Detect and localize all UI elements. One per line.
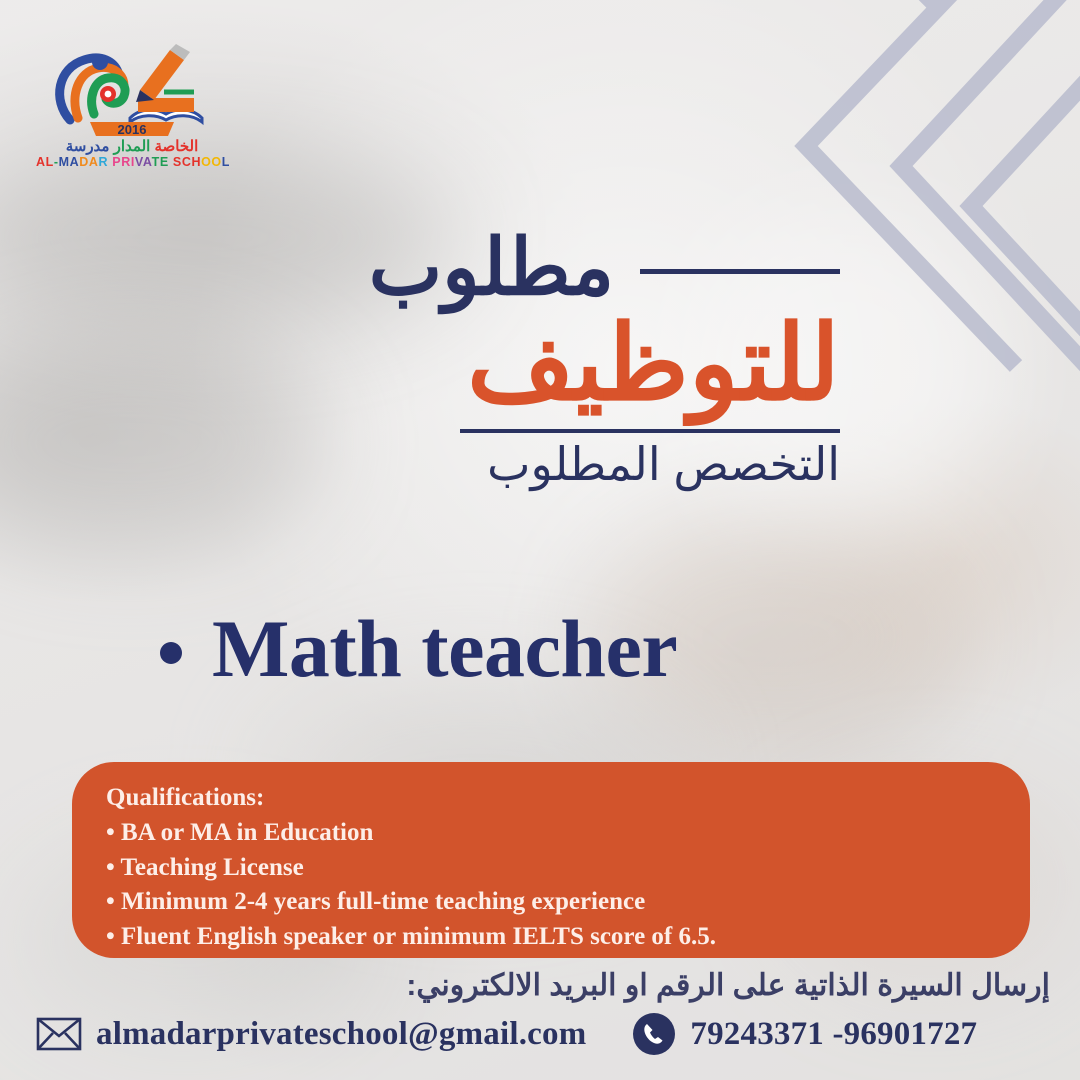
- role-title: Math teacher: [212, 608, 677, 690]
- role-line: Math teacher: [160, 608, 677, 690]
- school-crest-icon: 2016: [44, 42, 220, 138]
- logo-en-part: R: [99, 155, 109, 169]
- headline-block: مطلوب للتوظيف التخصص المطلوب: [220, 228, 840, 490]
- logo-en-part: PRI: [112, 155, 135, 169]
- phone-numbers: 79243371 -96901727: [690, 1016, 977, 1053]
- apply-instruction-text: إرسال السيرة الذاتية على الرقم او البريد…: [406, 968, 1050, 1003]
- logo-name-ar-part: مدرسة: [66, 138, 110, 155]
- envelope-icon: [36, 1017, 82, 1051]
- headline-line-2: للتوظيف: [220, 310, 840, 419]
- logo-en-part: L: [222, 155, 230, 169]
- headline-divider-bottom: [460, 429, 840, 433]
- qualification-item: • Minimum 2-4 years full-time teaching e…: [106, 885, 996, 920]
- contact-email[interactable]: almadarprivateschool@gmail.com: [36, 1016, 586, 1053]
- logo-year-text: 2016: [118, 122, 147, 137]
- bullet-dot-icon: [160, 642, 182, 664]
- headline-subtitle: التخصص المطلوب: [220, 439, 840, 490]
- logo-en-part: MA: [59, 155, 80, 169]
- headline-row-top: مطلوب: [220, 228, 840, 306]
- logo-en-part: SCH: [173, 155, 201, 169]
- email-address: almadarprivateschool@gmail.com: [96, 1016, 586, 1053]
- logo-name-english: AL-MADAR PRIVATE SCHOOL: [36, 156, 228, 170]
- logo-name-ar-part: المدار: [114, 138, 151, 155]
- headline-divider-top: [640, 269, 840, 274]
- job-poster: 2016 الخاصة المدار مدرسة AL-MADAR PRIVAT…: [0, 0, 1080, 1080]
- logo-name-ar-part: الخاصة: [155, 138, 199, 155]
- qualification-item: • Fluent English speaker or minimum IELT…: [106, 920, 996, 955]
- phone-icon: [632, 1012, 676, 1056]
- qualifications-title: Qualifications:: [106, 782, 996, 814]
- logo-en-part: TE: [152, 155, 169, 169]
- qualifications-card: Qualifications: • BA or MA in Education …: [72, 762, 1030, 958]
- logo-en-part: AL: [36, 155, 54, 169]
- contact-bar: almadarprivateschool@gmail.com 79243371 …: [36, 1012, 1046, 1056]
- logo-name-arabic: الخاصة المدار مدرسة: [36, 139, 228, 154]
- headline-line-1: مطلوب: [369, 228, 614, 306]
- school-logo: 2016 الخاصة المدار مدرسة AL-MADAR PRIVAT…: [36, 42, 228, 170]
- contact-phone[interactable]: 79243371 -96901727: [632, 1012, 977, 1056]
- logo-en-part: OO: [201, 155, 222, 169]
- logo-en-part: DA: [79, 155, 98, 169]
- qualification-item: • Teaching License: [106, 851, 996, 886]
- logo-en-part: VA: [135, 155, 152, 169]
- qualification-item: • BA or MA in Education: [106, 816, 996, 851]
